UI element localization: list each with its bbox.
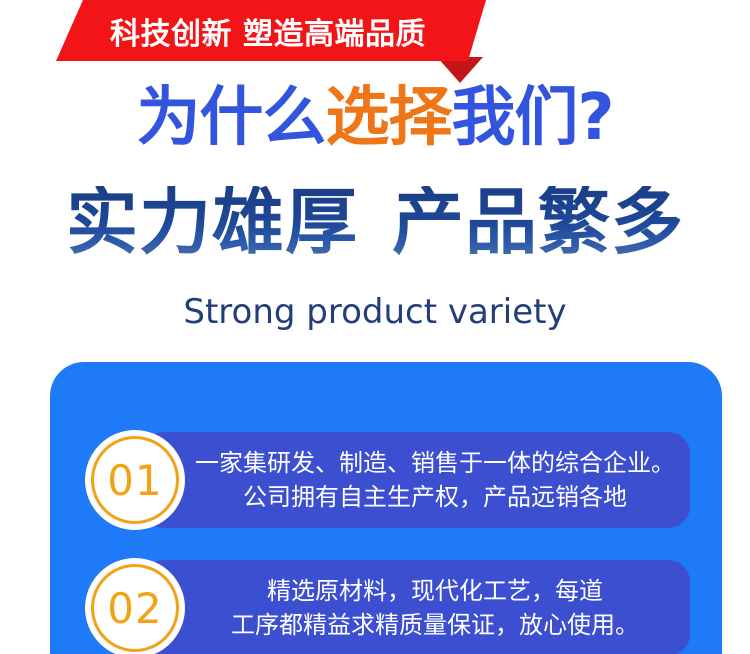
headline-part-1: 为什么	[136, 81, 325, 155]
feature-badge-number-01: 01	[107, 456, 162, 505]
ribbon-banner: 科技创新 塑造高端品质	[0, 0, 750, 90]
feature-item-01: 一家集研发、制造、销售于一体的综合企业。 公司拥有自主生产权，产品远销各地 01	[50, 432, 722, 528]
feature-text-01: 一家集研发、制造、销售于一体的综合企业。 公司拥有自主生产权，产品远销各地	[180, 432, 690, 528]
headline-secondary-left: 实力雄厚	[66, 180, 358, 264]
feature-badge-02: 02	[85, 558, 185, 654]
feature-badge-01: 01	[85, 430, 185, 530]
feature-line-01-a: 一家集研发、制造、销售于一体的综合企业。	[195, 446, 675, 480]
feature-line-02-a: 精选原材料，现代化工艺，每道	[267, 574, 603, 608]
page-title: 为什么选择我们?	[0, 86, 750, 150]
ribbon-text: 科技创新 塑造高端品质	[56, 0, 486, 61]
feature-text-02: 精选原材料，现代化工艺，每道 工序都精益求精质量保证，放心使用。	[180, 560, 690, 654]
headline-part-2: 选择	[325, 81, 451, 155]
feature-card: 一家集研发、制造、销售于一体的综合企业。 公司拥有自主生产权，产品远销各地 01…	[50, 362, 722, 654]
headline-secondary-right: 产品繁多	[392, 180, 684, 264]
page-subtitle: Strong product variety	[0, 292, 750, 332]
headline-secondary: 实力雄厚产品繁多	[0, 186, 750, 258]
promo-page: 科技创新 塑造高端品质 为什么选择我们? 实力雄厚产品繁多 Strong pro…	[0, 0, 750, 654]
feature-line-02-b: 工序都精益求精质量保证，放心使用。	[231, 608, 639, 642]
feature-item-02: 精选原材料，现代化工艺，每道 工序都精益求精质量保证，放心使用。 02	[50, 560, 722, 654]
headline-part-3: 我们?	[451, 81, 613, 155]
feature-line-01-b: 公司拥有自主生产权，产品远销各地	[243, 480, 627, 514]
feature-badge-number-02: 02	[107, 584, 162, 633]
